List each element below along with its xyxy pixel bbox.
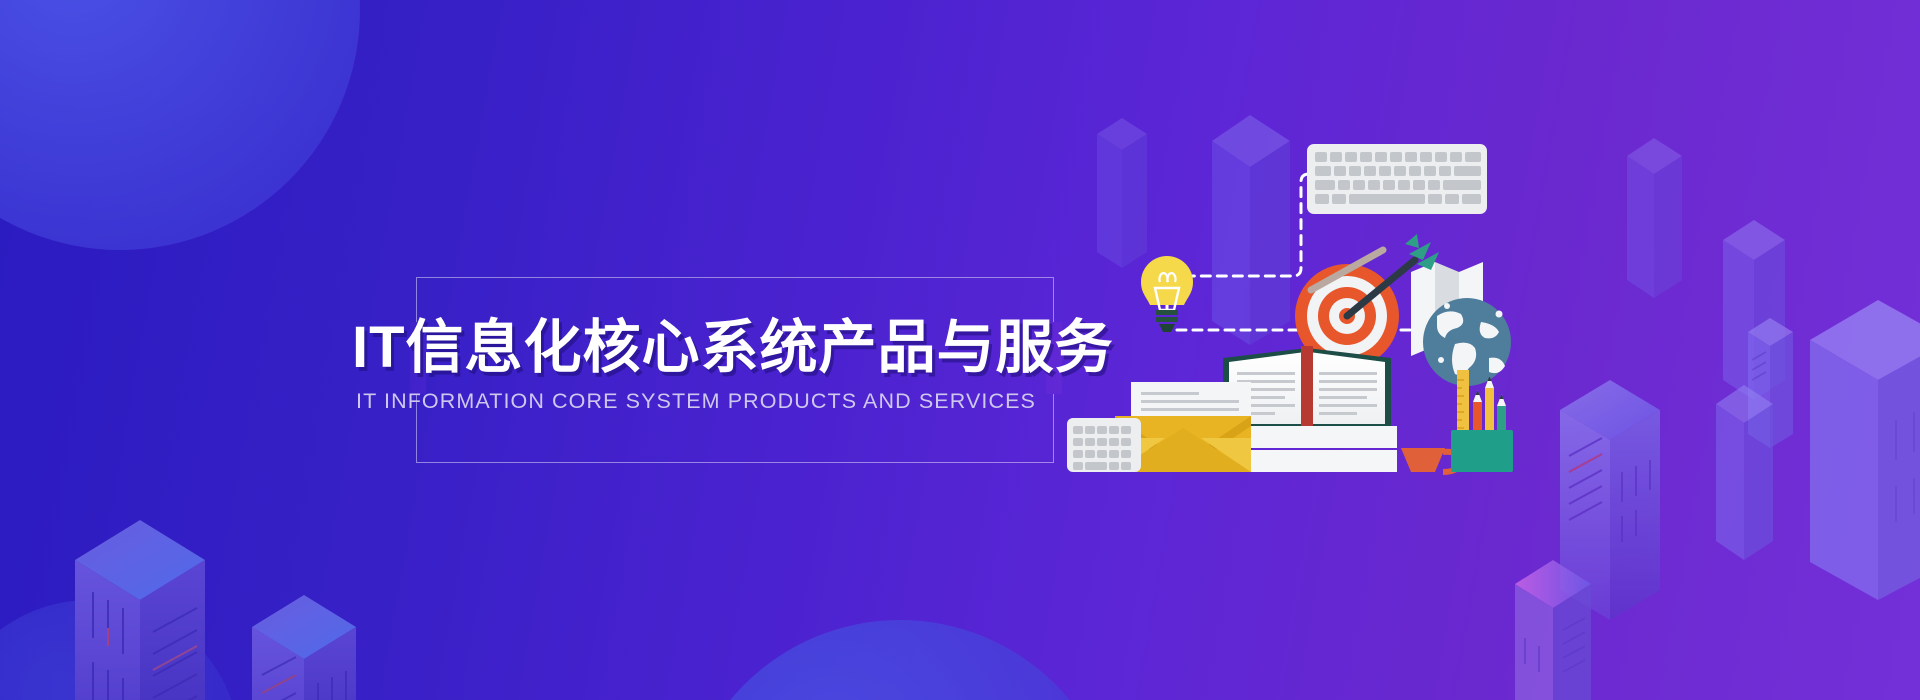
lightbulb-icon bbox=[1141, 256, 1193, 332]
building-left-short bbox=[252, 595, 387, 700]
coffee-cup-icon bbox=[1401, 448, 1459, 472]
circle-top-left-shape bbox=[0, 0, 360, 250]
building-left-tall bbox=[75, 520, 245, 700]
page-title: IT信息化核心系统产品与服务 bbox=[352, 318, 1072, 379]
building-right-5 bbox=[1716, 385, 1792, 560]
illustration-group bbox=[1115, 130, 1535, 470]
hero-banner: IT信息化核心系统产品与服务 IT INFORMATION CORE SYSTE… bbox=[0, 0, 1920, 700]
building-right-2 bbox=[1627, 138, 1699, 298]
pencil-holder-icon bbox=[1451, 370, 1513, 472]
keyboard-small-icon bbox=[1067, 418, 1141, 472]
keyboard-large-icon bbox=[1307, 144, 1487, 214]
circle-bottom-center-shape bbox=[680, 620, 1120, 700]
page-subtitle: IT INFORMATION CORE SYSTEM PRODUCTS AND … bbox=[356, 389, 1072, 414]
building-right-6 bbox=[1810, 300, 1920, 600]
hero-text-block: IT信息化核心系统产品与服务 IT INFORMATION CORE SYSTE… bbox=[352, 318, 1072, 414]
building-right-7 bbox=[1515, 560, 1615, 700]
